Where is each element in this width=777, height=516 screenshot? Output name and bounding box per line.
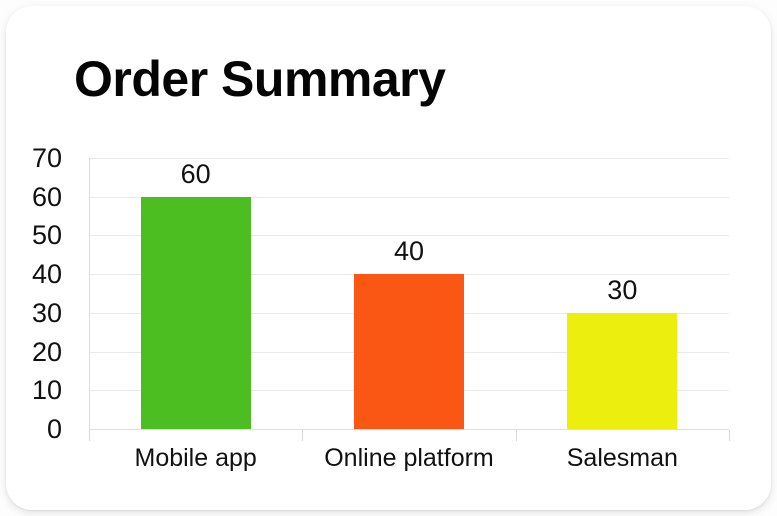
y-tick-label-40: 40: [32, 261, 62, 288]
x-axis-tick-1: [302, 430, 303, 441]
y-tick-label-70: 70: [32, 145, 62, 172]
x-axis-tick-0: [89, 430, 90, 441]
y-tick-label-0: 0: [47, 416, 62, 443]
bar-1[interactable]: [141, 197, 251, 429]
gridline-0: [89, 429, 729, 430]
category-label-3: Salesman: [492, 446, 752, 471]
y-tick-label-20: 20: [32, 339, 62, 366]
bar-chart: 010203040506070 604030 Mobile appOnline …: [6, 6, 771, 510]
y-tick-label-60: 60: [32, 184, 62, 211]
y-tick-label-30: 30: [32, 300, 62, 327]
y-tick-label-50: 50: [32, 222, 62, 249]
bar-value-label-2: 40: [349, 238, 469, 265]
screenshot-root: Order Summary 010203040506070 604030 Mob…: [0, 0, 777, 516]
y-tick-label-10: 10: [32, 377, 62, 404]
y-axis-line: [89, 158, 90, 430]
order-summary-card: Order Summary 010203040506070 604030 Mob…: [6, 6, 771, 510]
x-axis-tick-3: [729, 430, 730, 441]
bar-value-label-3: 30: [562, 277, 682, 304]
bar-3[interactable]: [567, 313, 677, 429]
bar-value-label-1: 60: [136, 161, 256, 188]
x-axis-tick-2: [516, 430, 517, 441]
bar-2[interactable]: [354, 274, 464, 429]
